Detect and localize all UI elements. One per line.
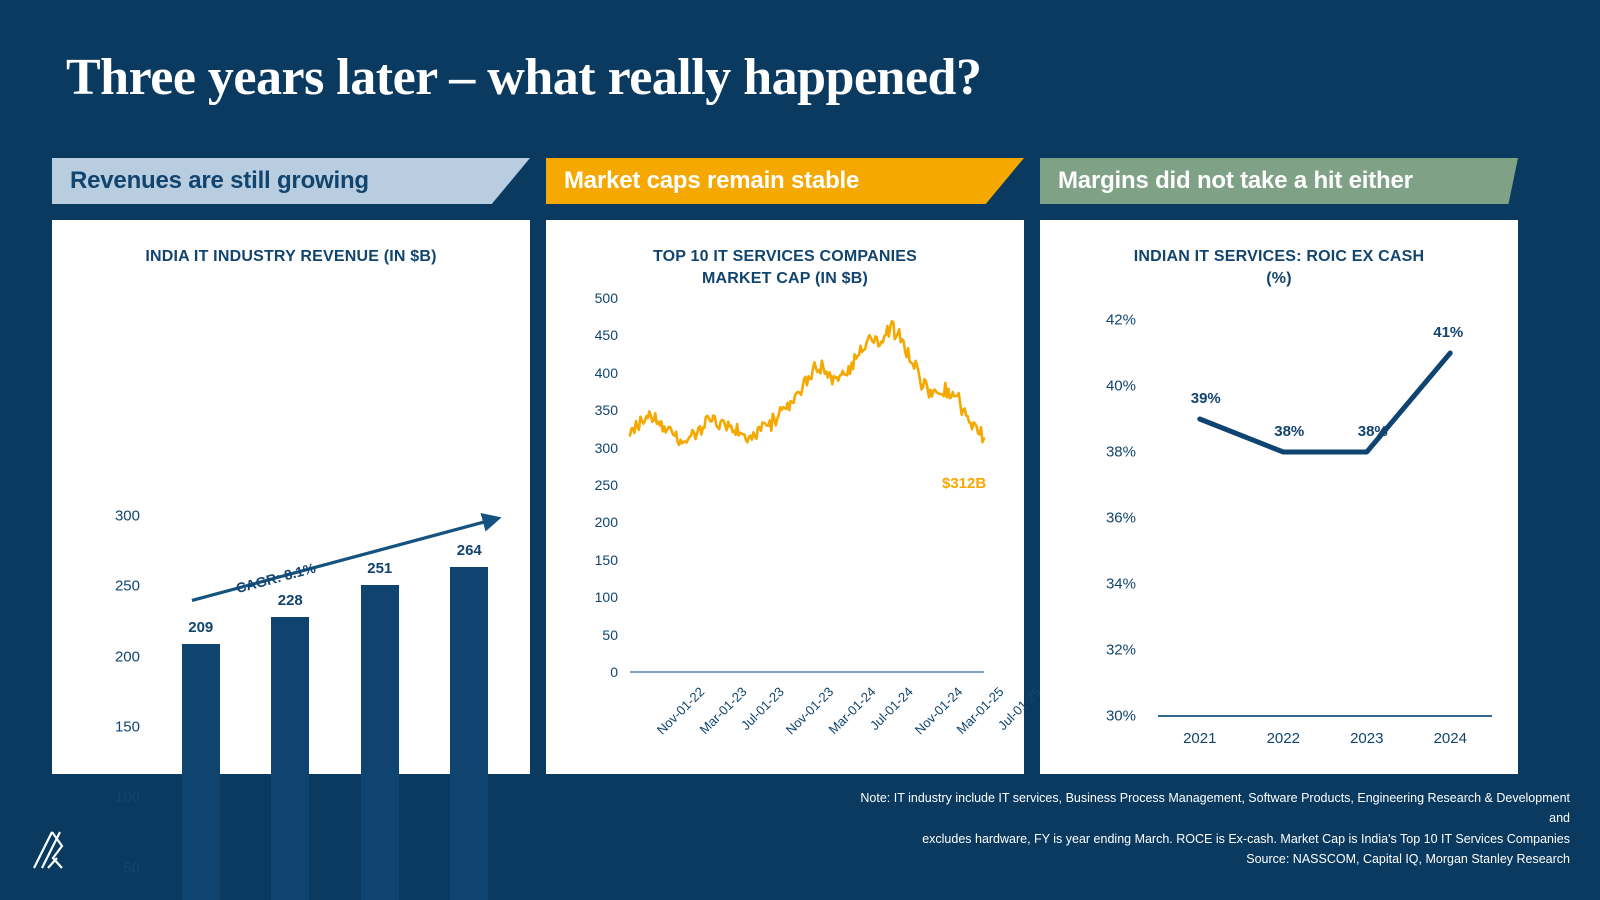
card-roic-chart: INDIAN IT SERVICES: ROIC EX CASH (%) 30%… [1040, 220, 1518, 774]
card-revenue-chart: INDIA IT INDUSTRY REVENUE (IN $B) 050100… [52, 220, 530, 774]
banner-margins: Margins did not take a hit either [1040, 158, 1518, 204]
footnote: Note: IT industry include IT services, B… [850, 788, 1570, 871]
banner-label-2: Market caps remain stable [564, 167, 859, 195]
banner-revenues: Revenues are still growing [52, 158, 530, 204]
company-logo-icon [26, 818, 90, 882]
slide-root: Three years later – what really happened… [0, 0, 1600, 900]
bar-chart-revenue: 050100150200250300209FY22228FY23251FY242… [52, 220, 530, 774]
footnote-line-1: Note: IT industry include IT services, B… [850, 788, 1570, 829]
roic-value-label: 38% [1358, 423, 1388, 440]
banner-label-3: Margins did not take a hit either [1058, 167, 1413, 195]
x-tick-label: 2021 [1183, 730, 1216, 747]
bar-value-label: 209 [188, 619, 213, 636]
bar-FY25 [450, 567, 488, 900]
roic-value-label: 41% [1433, 324, 1463, 341]
bar-value-label: 264 [457, 542, 482, 559]
banner-label-1: Revenues are still growing [70, 167, 369, 195]
marketcap-end-label: $312B [942, 475, 986, 492]
bar-FY22 [182, 644, 220, 900]
roic-value-label: 39% [1191, 390, 1221, 407]
line-chart-roic: 30%32%34%36%38%40%42%39%202138%202238%20… [1040, 220, 1518, 774]
footnote-line-2: excludes hardware, FY is year ending Mar… [850, 829, 1570, 850]
y-tick-label: 100 [115, 789, 140, 806]
bar-value-label: 228 [278, 592, 303, 609]
y-tick-label: 50 [123, 859, 140, 876]
bar-FY23 [271, 617, 309, 900]
x-tick-label: 2022 [1267, 730, 1300, 747]
bar-FY24 [361, 585, 399, 900]
bar-value-label: 251 [367, 560, 392, 577]
card-marketcap-chart: TOP 10 IT SERVICES COMPANIES MARKET CAP … [546, 220, 1024, 774]
x-tick-label: 2023 [1350, 730, 1383, 747]
line-chart-marketcap: 050100150200250300350400450500$312BNov-0… [546, 220, 1024, 774]
roic-value-label: 38% [1274, 423, 1304, 440]
footnote-line-3: Source: NASSCOM, Capital IQ, Morgan Stan… [850, 849, 1570, 870]
page-title: Three years later – what really happened… [66, 48, 981, 107]
x-tick-label: 2024 [1434, 730, 1467, 747]
roic-line-svg [1040, 220, 1518, 774]
banner-market-caps: Market caps remain stable [546, 158, 1024, 204]
